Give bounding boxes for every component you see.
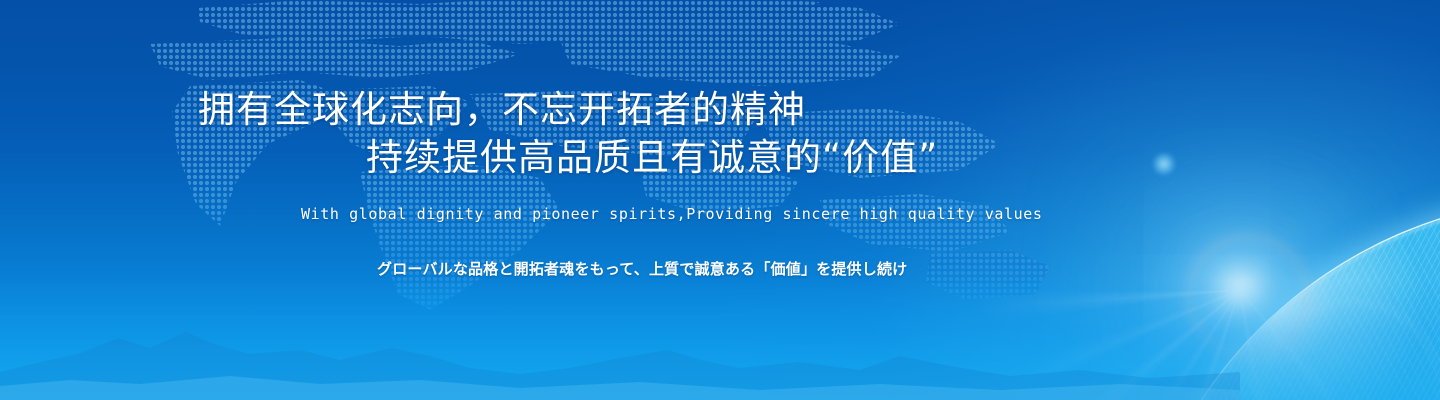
subtitle-japanese: グローバルな品格と開拓者魂をもって、上質で誠意ある「価値」を提供し続け	[0, 258, 1437, 279]
hero-banner: 拥有全球化志向，不忘开拓者的精神 持续提供高品质且有诚意的“价值” With g…	[0, 0, 1440, 400]
subtitle-english: With global dignity and pioneer spirits,…	[0, 205, 1361, 223]
headline-line-2: 持续提供高品质且有诚意的“价值”	[0, 134, 1060, 182]
banner-copy: 拥有全球化志向，不忘开拓者的精神 持续提供高品质且有诚意的“价值” With g…	[0, 0, 1440, 400]
page-title: 拥有全球化志向，不忘开拓者的精神 持续提供高品质且有诚意的“价值”	[0, 86, 1060, 182]
headline-line-1: 拥有全球化志向，不忘开拓者的精神	[0, 86, 1060, 134]
